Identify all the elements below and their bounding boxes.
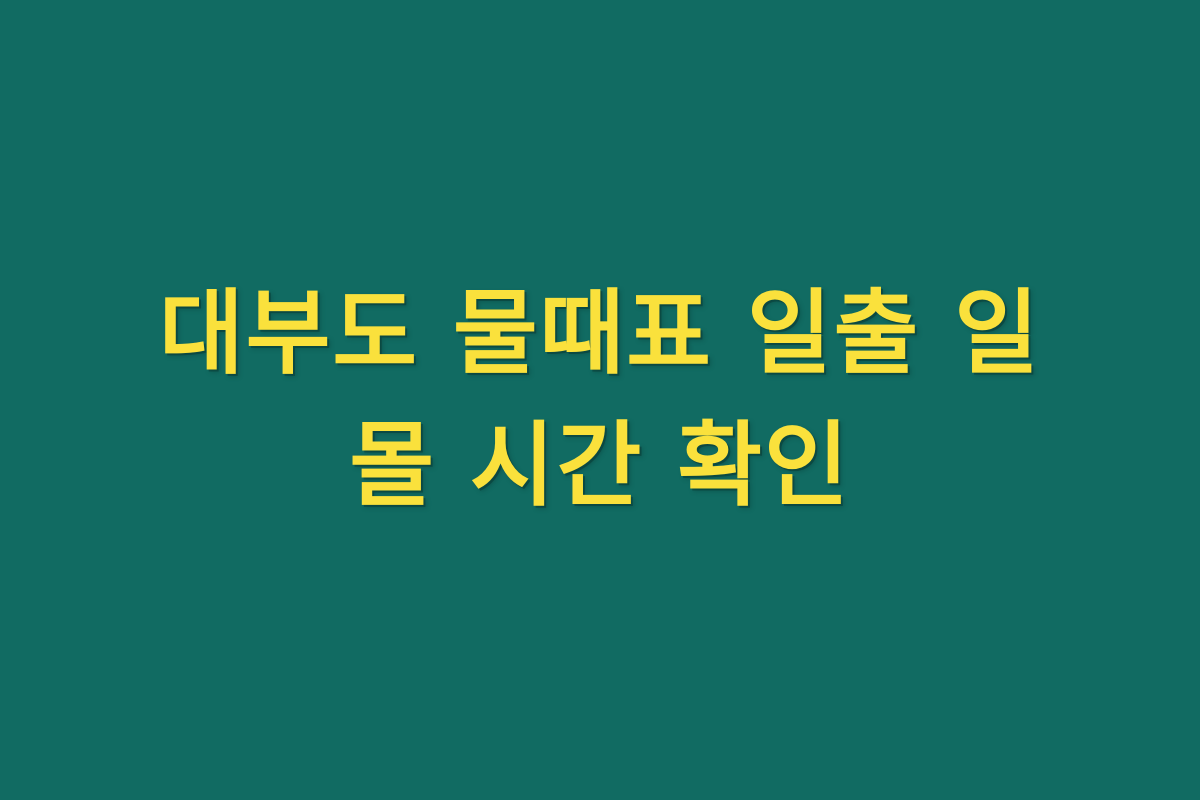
page-title: 대부도 물때표 일출 일 몰 시간 확인: [100, 268, 1100, 533]
banner-canvas: 대부도 물때표 일출 일 몰 시간 확인: [0, 0, 1200, 800]
headline-line-1: 대부도 물때표 일출 일: [100, 268, 1100, 400]
headline-line-2: 몰 시간 확인: [100, 400, 1100, 532]
